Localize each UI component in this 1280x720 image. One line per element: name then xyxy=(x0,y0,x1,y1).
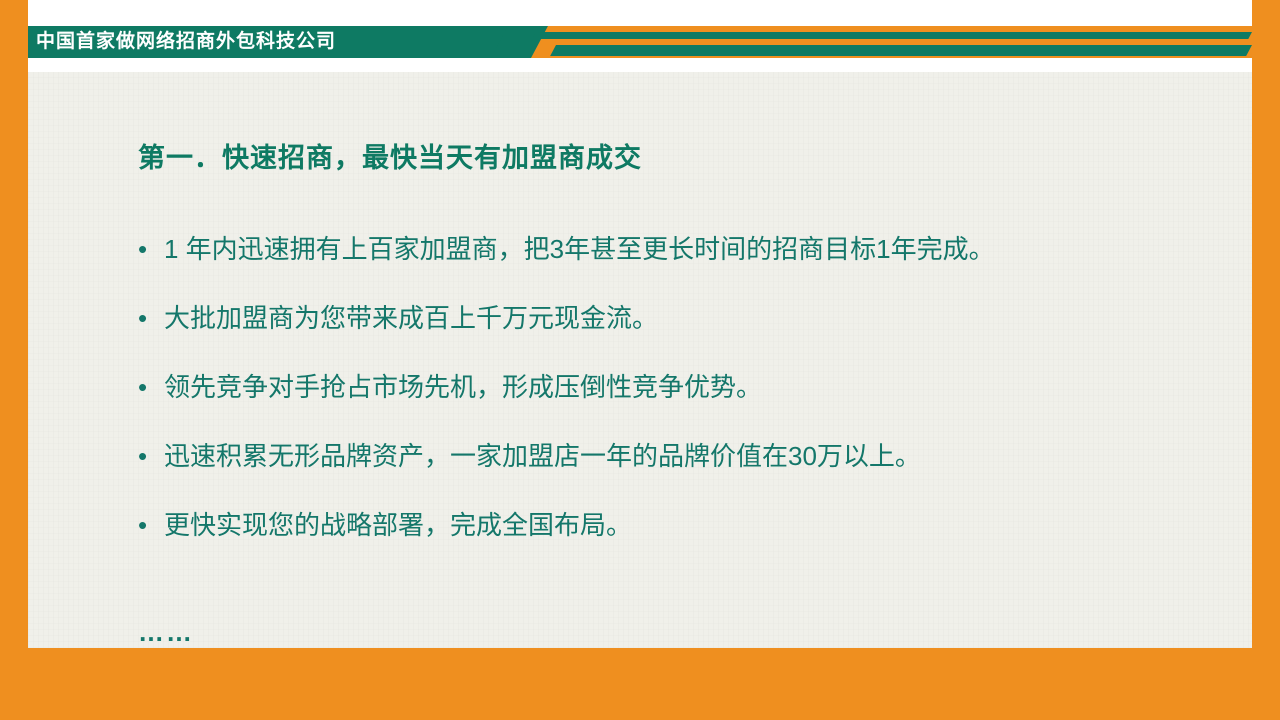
list-item: • 大批加盟商为您带来成百上千万元现金流。 xyxy=(138,301,1218,335)
list-item-label: 1 年内迅速拥有上百家加盟商，把3年甚至更长时间的招商目标1年完成。 xyxy=(164,232,995,266)
header-accent-stripe-1 xyxy=(532,32,1252,39)
list-item: • 1 年内迅速拥有上百家加盟商，把3年甚至更长时间的招商目标1年完成。 xyxy=(138,232,1218,266)
bullet-marker-icon: • xyxy=(138,301,164,335)
bullet-marker-icon: • xyxy=(138,232,164,266)
header-white-strip-bottom xyxy=(28,58,1252,72)
header-title: 中国首家做网络招商外包科技公司 xyxy=(36,26,336,58)
header-accent-stripe-2 xyxy=(550,45,1252,56)
bullet-marker-icon: • xyxy=(138,439,164,473)
bullet-list: • 1 年内迅速拥有上百家加盟商，把3年甚至更长时间的招商目标1年完成。 • 大… xyxy=(138,232,1218,577)
list-item-label: 迅速积累无形品牌资产，一家加盟店一年的品牌价值在30万以上。 xyxy=(164,439,921,473)
continuation-ellipsis: …… xyxy=(138,617,194,648)
list-item-label: 更快实现您的战略部署，完成全国布局。 xyxy=(164,508,632,542)
slide: 中国首家做网络招商外包科技公司 第一．快速招商，最快当天有加盟商成交 • 1 年… xyxy=(0,0,1280,720)
slide-footer-band: 按效果付费，前期不收任何费用 xyxy=(0,648,1280,720)
header-white-strip-top xyxy=(28,0,1252,26)
slide-header-band: 中国首家做网络招商外包科技公司 xyxy=(0,0,1280,72)
page-title: 第一．快速招商，最快当天有加盟商成交 xyxy=(138,136,642,175)
list-item: • 更快实现您的战略部署，完成全国布局。 xyxy=(138,508,1218,542)
list-item: • 迅速积累无形品牌资产，一家加盟店一年的品牌价值在30万以上。 xyxy=(138,439,1218,473)
bullet-marker-icon: • xyxy=(138,508,164,542)
bullet-marker-icon: • xyxy=(138,370,164,404)
list-item: • 领先竞争对手抢占市场先机，形成压倒性竞争优势。 xyxy=(138,370,1218,404)
list-item-label: 领先竞争对手抢占市场先机，形成压倒性竞争优势。 xyxy=(164,370,762,404)
list-item-label: 大批加盟商为您带来成百上千万元现金流。 xyxy=(164,301,658,335)
